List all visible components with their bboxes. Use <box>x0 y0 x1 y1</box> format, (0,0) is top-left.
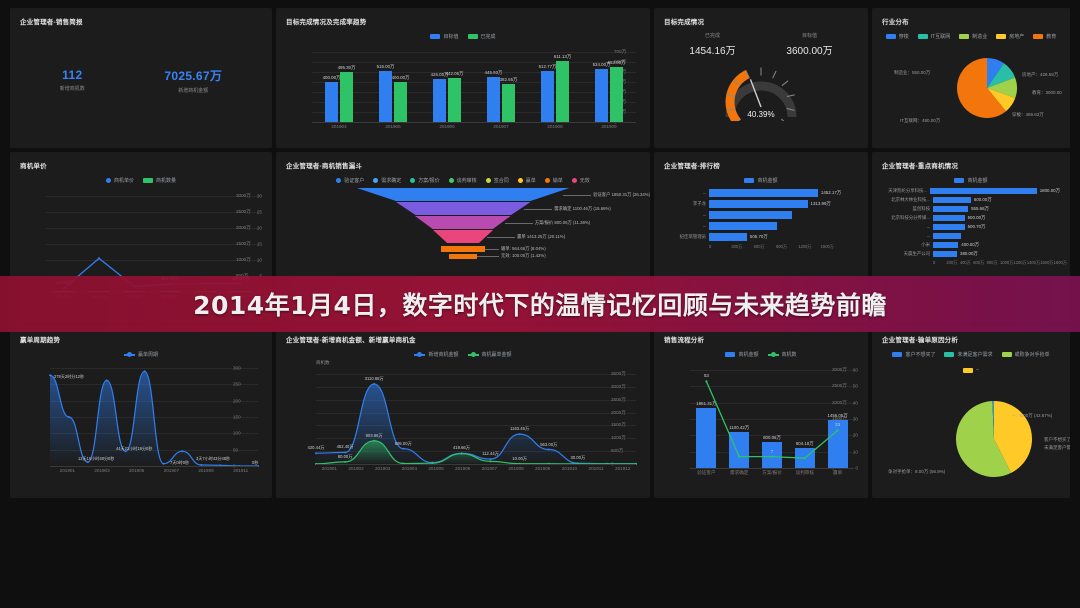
bar-value-label: 1851.31万 <box>696 401 716 407</box>
panel-title: 企业管理者-商机销售漏斗 <box>286 160 640 170</box>
legend-item[interactable]: 未满足客户需求 <box>944 351 992 358</box>
x-tick: 201906 <box>420 124 474 129</box>
bar-category-label: 李子龙 <box>664 201 706 207</box>
x-tick: 1400万 <box>1027 260 1040 266</box>
bar-value-label: 442.06万 <box>446 71 464 77</box>
legend-label: 需求确定 <box>381 177 401 184</box>
bar-group: 534.00万553.00万 <box>582 52 636 122</box>
x-tick: 验证客户 <box>690 470 723 476</box>
panel-title: 企业管理者-重点商机情况 <box>882 160 1060 170</box>
annotation: 278天2时分12秒 <box>54 374 84 380</box>
x-tick: 800万 <box>987 260 1000 266</box>
legend-item[interactable]: IT互联网 <box>918 33 950 40</box>
kpi-label: 新增商机金额 <box>164 87 222 94</box>
point-label: 7 <box>771 449 773 454</box>
bar-group: 400.00万495.30万 <box>312 52 366 122</box>
legend-item[interactable]: 谈判审核 <box>449 177 477 184</box>
bar-value-label: 400.00万 <box>392 75 410 81</box>
x-tick: 谈判审核 <box>788 470 821 476</box>
bar[interactable] <box>709 211 792 219</box>
panel-lose-reason: 企业管理者-输单原因分析 客户不想买了未满足客户需求或败争对手抢单-- --：6… <box>872 326 1070 498</box>
x-tick: 201904 <box>312 124 366 129</box>
legend-label: 商机金额 <box>738 351 758 358</box>
panel-title: 销售流程分析 <box>664 334 858 344</box>
bar[interactable]: 426.00万 <box>433 79 446 122</box>
chart-industry-pie: 穿梭：469.63万IT互联网：480.00万制造业：550.00万房地产：42… <box>882 40 1060 128</box>
legend-label: 商机数量 <box>156 177 176 184</box>
bar-value-label: 1800.00万 <box>1040 188 1060 194</box>
legend-label: 目标值 <box>443 33 458 40</box>
bar-group: 1100.42万 <box>723 370 756 468</box>
table-row[interactable]: --500.70万 <box>882 224 1060 230</box>
panel-title: 企业管理者-排行榜 <box>664 160 858 170</box>
bar-category-label: 小米 <box>882 242 930 248</box>
bar[interactable]: 400.00万 <box>394 82 407 122</box>
x-tick: 200万 <box>946 260 959 266</box>
point-label: 1163.46万 <box>510 426 529 432</box>
legend-label: 客户不想买了 <box>905 351 935 358</box>
pie-label: 制造业：550.00万 <box>894 70 930 76</box>
point-label: 53 <box>704 373 709 378</box>
legend-item[interactable]: 已完成 <box>468 33 496 40</box>
legend-item[interactable]: 目标值 <box>430 33 458 40</box>
legend: 客户不想买了未满足客户需求或败争对手抢单-- <box>882 351 1060 373</box>
legend-label: 无效 <box>580 177 590 184</box>
legend-label: 商机赢单金额 <box>482 351 512 358</box>
bar[interactable]: 495.30万 <box>340 72 353 122</box>
bar[interactable] <box>933 251 957 257</box>
bar[interactable]: 1100.42万 <box>729 432 749 468</box>
bar-value-label: 1456.05万 <box>827 413 847 419</box>
bar[interactable] <box>933 242 958 248</box>
bar-value-label: 500.00万 <box>968 215 986 221</box>
x-tick: 0 <box>933 260 946 266</box>
bar[interactable] <box>933 233 961 239</box>
pie-label: IT互联网：480.00万 <box>900 118 940 124</box>
legend-item[interactable]: 商机金额 <box>954 177 987 184</box>
legend-item[interactable]: 商机金额 <box>744 177 777 184</box>
bar[interactable] <box>933 206 968 212</box>
legend-label: 商机数 <box>782 351 797 358</box>
gauge-dial: 40.39% <box>718 59 804 121</box>
legend-item[interactable]: 验证客户 <box>336 177 364 184</box>
bar[interactable] <box>709 233 747 241</box>
funnel-segment[interactable] <box>441 246 485 252</box>
table-row[interactable]: 北京科技分分传媒...500.00万 <box>882 215 1060 221</box>
bar-value-label: 505.70万 <box>750 234 768 240</box>
x-tick: 赢单 <box>821 470 854 476</box>
chart-sales-process: 0500万1000万1500万2000万2500万3000万0102030405… <box>664 360 858 480</box>
x-tick: 201907 <box>474 124 528 129</box>
bar-category-label: -- <box>664 213 706 218</box>
legend-item[interactable]: 制造业 <box>959 33 987 40</box>
panel-industry-distribution: 行业分布 穿梭IT互联网制造业房地产教育 穿梭：469.63万IT互联网：480… <box>872 8 1070 148</box>
x-tick: 1200万 <box>798 244 820 250</box>
bar[interactable]: 1851.31万 <box>696 408 716 468</box>
legend-label: 方案/报价 <box>418 177 439 184</box>
legend-item[interactable]: 赢单周期 <box>124 351 158 358</box>
funnel-label: 赢单 1413.25万 (20.11%) <box>517 234 565 240</box>
funnel-label: 方案/报价 800.06万 (11.38%) <box>535 220 590 226</box>
gauge-percent: 40.39% <box>718 110 804 119</box>
x-tick: 1000万 <box>1000 260 1013 266</box>
bar-category-label: -- <box>882 234 930 239</box>
bar-value-label: 495.30万 <box>338 65 356 71</box>
panel-new-opportunity-amount: 企业管理者-新增商机金额、新增赢单商机金 新增商机金额 商机赢单金额 商机数 0… <box>276 326 650 498</box>
bar[interactable] <box>930 188 1037 194</box>
legend-item[interactable]: 无效 <box>572 177 590 184</box>
legend: 目标值 已完成 <box>286 33 640 40</box>
panel-title: 目标完成情况 <box>664 16 858 26</box>
bar-value-label: 611.13万 <box>554 54 572 60</box>
bar[interactable]: 442.06万 <box>448 78 461 122</box>
legend-label: 赢单周期 <box>138 351 158 358</box>
legend-label: 谈判审核 <box>457 177 477 184</box>
x-tick: 201911 <box>223 468 258 473</box>
x-tick: 201903 <box>85 468 120 473</box>
x-tick: 1500万 <box>821 244 843 250</box>
bar-value-label: 800.06万 <box>763 435 781 441</box>
bar-group: 426.00万442.06万 <box>420 52 474 122</box>
legend: 商机金额 <box>664 177 858 184</box>
bar[interactable]: 445.93万 <box>487 77 500 122</box>
bar-value-label: 600.00万 <box>974 197 992 203</box>
x-tick: 400万 <box>960 260 973 266</box>
bar-value-label: 1313.99万 <box>811 201 831 207</box>
bar-value-label: 400.00万 <box>961 242 979 248</box>
bar[interactable]: 611.13万 <box>556 61 569 122</box>
chart-win-cycle: 050100150200250300278天2时分12秒12天10小时48分0秒… <box>20 360 262 478</box>
table-row[interactable]: --1452.17万 <box>664 189 858 197</box>
bar-value-label: 1452.17万 <box>821 190 841 196</box>
kpi-group: 112 新增商机数 7025.67万 新增商机金额 <box>20 26 262 148</box>
bar-group: 445.93万382.65万 <box>474 52 528 122</box>
chart-key-opportunities: 天津凯纶分享科技...1800.00万北京林大林业科技...600.00万蓝创科… <box>882 188 1060 266</box>
point-label: 595.00万 <box>395 441 412 447</box>
table-row[interactable]: 李子龙1313.99万 <box>664 200 858 208</box>
pie-label: 房地产：426.58万 <box>1022 72 1058 78</box>
x-tick: 201905 <box>366 124 420 129</box>
legend-label: 商机金额 <box>967 177 987 184</box>
x-tick: 1800万 <box>1054 260 1067 266</box>
bar[interactable]: 1456.05万 <box>828 420 848 468</box>
funnel-label: 需求确定 1100.46万 (15.66%) <box>554 206 611 212</box>
point-label: 80.00万 <box>338 454 353 460</box>
pie-label: 客户不想买了：5 <box>1044 437 1070 443</box>
legend-label: 输单 <box>553 177 563 184</box>
panel-title: 行业分布 <box>882 16 1060 26</box>
pie-label: 争对手抢单：8.00万 (56.9%) <box>888 469 945 475</box>
legend-label: 教育 <box>1046 33 1056 40</box>
legend-label: IT互联网 <box>931 33 950 40</box>
funnel-label: 无效: 100.00万 (1.42%) <box>501 253 546 259</box>
bar-category-label: -- <box>882 225 930 230</box>
kpi-new-opportunity-amount: 7025.67万 新增商机金额 <box>164 67 222 94</box>
legend-label: 或败争对手抢单 <box>1015 351 1050 358</box>
legend-item[interactable]: 商机数量 <box>143 177 176 184</box>
legend: 穿梭IT互联网制造业房地产教育 <box>882 33 1060 40</box>
legend-item[interactable]: 方案/报价 <box>410 177 439 184</box>
table-row[interactable]: 北京林大林业科技...600.00万 <box>882 197 1060 203</box>
pie-label: 穿梭：469.63万 <box>1012 112 1044 118</box>
panel-title: 企业管理者-销售简报 <box>20 16 262 26</box>
legend: 新增商机金额 商机赢单金额 <box>286 351 640 358</box>
point-label: 30.00万 <box>570 455 585 461</box>
bar-category-label: 纪佳琪管理员 <box>664 234 706 240</box>
panel-sales-summary: 企业管理者-销售简报 112 新增商机数 7025.67万 新增商机金额 <box>10 8 272 148</box>
panel-sales-process: 销售流程分析 商机金额 商机数 0500万1000万1500万2000万2500… <box>654 326 868 498</box>
legend-label: 商机单价 <box>114 177 134 184</box>
x-tick: 201906 <box>449 466 476 471</box>
x-tick: 201901 <box>316 466 343 471</box>
bar-value-label: 1100.42万 <box>729 425 749 431</box>
bar-group: 604.18万 <box>788 370 821 468</box>
table-row[interactable]: 蓝创科技555.66万 <box>882 206 1060 212</box>
legend-label: 验证客户 <box>344 177 364 184</box>
bar-value-label: 553.00万 <box>608 60 626 66</box>
point-label: 563.00万 <box>540 442 557 448</box>
bar-value-label: 380.00万 <box>960 251 978 257</box>
legend-item[interactable]: 商机金额 <box>725 351 758 358</box>
gauge-done-value: 1454.16万 <box>689 42 735 57</box>
funnel-segment[interactable] <box>449 254 477 259</box>
bar[interactable]: 400.00万 <box>325 82 338 122</box>
x-tick: 201910 <box>556 466 583 471</box>
x-tick: 201909 <box>529 466 556 471</box>
table-row[interactable]: -- <box>882 233 1060 239</box>
x-tick: 600万 <box>754 244 776 250</box>
table-row[interactable]: 天晨生产公司380.00万 <box>882 251 1060 257</box>
gauge-target-value: 3600.00万 <box>786 42 832 57</box>
bar[interactable] <box>709 189 818 197</box>
x-tick: 201909 <box>582 124 636 129</box>
point-label: 419.66万 <box>453 445 470 451</box>
funnel-label: 验证客户 1850.31万 (26.34%) <box>593 192 650 198</box>
x-tick: 0 <box>709 244 731 250</box>
legend-item[interactable]: 新增商机金额 <box>414 351 458 358</box>
pie-label: 未满足客户需求 <box>1044 445 1070 451</box>
legend-item[interactable]: 签合同 <box>486 177 509 184</box>
bar[interactable]: 382.65万 <box>502 84 515 122</box>
legend: 验证客户需求确定方案/报价谈判审核签合同赢单输单无效 <box>286 177 640 184</box>
legend-item[interactable]: 商机单价 <box>106 177 134 184</box>
bar-category-label: -- <box>664 224 706 229</box>
headline-text: 2014年1月4日，数字时代下的温情记忆回顾与未来趋势前瞻 <box>193 286 887 322</box>
legend-item[interactable]: 商机数 <box>768 351 797 358</box>
panel-title: 企业管理者-输单原因分析 <box>882 334 1060 344</box>
x-tick: 201904 <box>396 466 423 471</box>
legend-item[interactable]: 输单 <box>545 177 563 184</box>
legend-label: 商机金额 <box>757 177 777 184</box>
pie-label: 教育：3000.00 <box>1032 90 1062 96</box>
bar[interactable] <box>709 222 777 230</box>
table-row[interactable]: 纪佳琪管理员505.70万 <box>664 233 858 241</box>
legend-label: 已完成 <box>481 33 496 40</box>
funnel-segment[interactable] <box>357 188 569 201</box>
bar[interactable]: 604.18万 <box>795 448 815 468</box>
point-label: 3110.68万 <box>365 376 384 382</box>
bar-value-label: 400.00万 <box>323 75 341 81</box>
x-tick: 1200万 <box>1013 260 1026 266</box>
bar[interactable] <box>709 200 808 208</box>
bar-category-label: 天晨生产公司 <box>882 251 930 257</box>
chart-ranking: --1452.17万李子龙1313.99万----纪佳琪管理员505.70万03… <box>664 189 858 250</box>
bar-category-label: 天津凯纶分享科技... <box>882 188 927 194</box>
kpi-new-opportunities: 112 新增商机数 <box>60 68 85 92</box>
legend-item[interactable]: 教育 <box>1033 33 1056 40</box>
legend-label: 赢单 <box>526 177 536 184</box>
legend: 商机单价 商机数量 <box>20 177 262 184</box>
legend-label: 签合同 <box>494 177 509 184</box>
legend-item[interactable]: 客户不想买了 <box>892 351 935 358</box>
legend-item[interactable]: 或败争对手抢单 <box>1002 351 1050 358</box>
legend: 赢单周期 <box>20 351 262 358</box>
bar-category-label: 北京科技分分传媒... <box>882 215 930 221</box>
table-row[interactable]: 天津凯纶分享科技...1800.00万 <box>882 188 1060 194</box>
x-tick: 201908 <box>503 466 530 471</box>
gauge-target-label: 目标值 <box>786 32 832 39</box>
headline-banner: 2014年1月4日，数字时代下的温情记忆回顾与未来趋势前瞻 <box>0 276 1080 332</box>
x-tick: 600万 <box>973 260 986 266</box>
panel-win-cycle-trend: 赢单周期趋势 赢单周期 050100150200250300278天2时分12秒… <box>10 326 272 498</box>
bar-group: 515.00万400.00万 <box>366 52 420 122</box>
x-tick: 201909 <box>189 468 224 473</box>
panel-target-completion-trend: 目标完成情况及完成率趋势 目标值 已完成 0100万200万300万400万50… <box>276 8 650 148</box>
kpi-value: 112 <box>60 68 85 82</box>
gauge-done: 已完成 1454.16万 <box>689 32 735 57</box>
point-label: 903.66万 <box>366 433 383 439</box>
legend-item[interactable]: 需求确定 <box>373 177 401 184</box>
legend-label: 新增商机金额 <box>428 351 458 358</box>
bar-value-label: 500.70万 <box>968 224 986 230</box>
chart-lose-reason-pie: --：6.00万 (42.67%)争对手抢单：8.00万 (56.9%)客户不想… <box>882 373 1060 491</box>
y-tick-right: 0 <box>855 466 858 471</box>
bar[interactable]: 553.00万 <box>610 67 623 122</box>
x-tick: 201905 <box>119 468 154 473</box>
point-label: 23 <box>835 422 840 427</box>
point-label: 10.00万 <box>512 456 527 462</box>
bar-category-label: 北京林大林业科技... <box>882 197 930 203</box>
bar-value-label: 604.18万 <box>796 441 814 447</box>
bar-value-label: 512.77万 <box>539 64 557 70</box>
funnel-segment[interactable] <box>433 230 493 243</box>
bar-group: 512.77万611.13万 <box>528 52 582 122</box>
x-tick: 201902 <box>343 466 370 471</box>
annotation: 12天10小时48分0秒 <box>78 456 114 462</box>
panel-title: 商机单价 <box>20 160 262 170</box>
legend-label: 房地产 <box>1009 33 1024 40</box>
table-row[interactable]: 小米400.00万 <box>882 242 1060 248</box>
x-tick: 201907 <box>476 466 503 471</box>
bar-category-label: -- <box>664 191 706 196</box>
table-row[interactable]: -- <box>664 222 858 230</box>
point-label: 112.44万 <box>482 451 499 457</box>
x-tick: 201903 <box>369 466 396 471</box>
legend-item[interactable]: 赢单 <box>518 177 536 184</box>
chart-target-completion: 0100万200万300万400万500万600万700万400.00万495.… <box>286 42 640 134</box>
bar-group: 1456.05万 <box>821 370 854 468</box>
legend-item[interactable]: 穿梭 <box>886 33 909 40</box>
panel-title: 赢单周期趋势 <box>20 334 262 344</box>
bar[interactable] <box>933 224 965 230</box>
funnel-segment[interactable] <box>415 216 511 229</box>
bar-value-label: 382.65万 <box>500 77 518 83</box>
bar[interactable]: 515.00万 <box>379 71 392 123</box>
point-label: 420.44万 <box>308 445 325 451</box>
bar[interactable] <box>933 215 965 221</box>
kpi-value: 7025.67万 <box>164 67 222 84</box>
x-tick: 需求确定 <box>723 470 756 476</box>
point-label: 452.40万 <box>337 444 354 450</box>
bar-category-label: 蓝创科技 <box>882 206 930 212</box>
bar-value-label: 445.93万 <box>485 70 503 76</box>
bar[interactable]: 800.06万 <box>762 442 782 468</box>
x-tick: 201911 <box>583 466 610 471</box>
bar-value-label: 555.66万 <box>971 206 989 212</box>
chart-sales-funnel: 验证客户 1850.31万 (26.34%)需求确定 1100.46万 (15.… <box>286 188 640 272</box>
gauge-done-label: 已完成 <box>689 32 735 39</box>
x-tick: 方案/报价 <box>756 470 789 476</box>
x-tick: 300万 <box>731 244 753 250</box>
x-tick: 201907 <box>154 468 189 473</box>
annotation: 3天7小时43分48秒 <box>196 456 230 462</box>
table-row[interactable]: -- <box>664 211 858 219</box>
chart-new-amount: 0500万1000万1500万2000万2500万3000万3500万420.4… <box>286 366 640 476</box>
x-tick: 201905 <box>423 466 450 471</box>
legend-label: 制造业 <box>972 33 987 40</box>
bar[interactable]: 512.77万 <box>541 71 554 122</box>
bar[interactable] <box>933 197 971 203</box>
panel-title: 企业管理者-新增商机金额、新增赢单商机金 <box>286 334 640 344</box>
funnel-segment[interactable] <box>396 202 531 215</box>
kpi-label: 新增商机数 <box>60 85 85 92</box>
legend-item[interactable]: 商机赢单金额 <box>468 351 512 358</box>
legend-label: 未满足客户需求 <box>957 351 992 358</box>
x-tick: 201912 <box>609 466 636 471</box>
x-tick: 201908 <box>528 124 582 129</box>
gauge-target: 目标值 3600.00万 <box>786 32 832 57</box>
bar[interactable]: 534.00万 <box>595 69 608 122</box>
legend-item[interactable]: 房地产 <box>996 33 1024 40</box>
bar-value-label: 515.00万 <box>377 64 395 70</box>
funnel-label: 输单: 564.66万 (8.04%) <box>501 246 546 252</box>
panel-title: 目标完成情况及完成率趋势 <box>286 16 640 26</box>
gauge-values: 已完成 1454.16万 目标值 3600.00万 <box>664 32 858 57</box>
bar-group: 1851.31万 <box>690 370 723 468</box>
panel-target-gauge: 目标完成情况 已完成 1454.16万 目标值 3600.00万 40.39% <box>654 8 868 148</box>
x-tick: 201901 <box>50 468 85 473</box>
pie-label: --：6.00万 (42.67%) <box>1012 413 1052 419</box>
legend-label: 穿梭 <box>899 33 909 40</box>
legend: 商机金额 <box>882 177 1060 184</box>
annotation: 44天21小时19分0秒 <box>116 446 152 452</box>
x-tick: 900万 <box>776 244 798 250</box>
x-tick: 1600万 <box>1040 260 1053 266</box>
legend: 商机金额 商机数 <box>664 351 858 358</box>
